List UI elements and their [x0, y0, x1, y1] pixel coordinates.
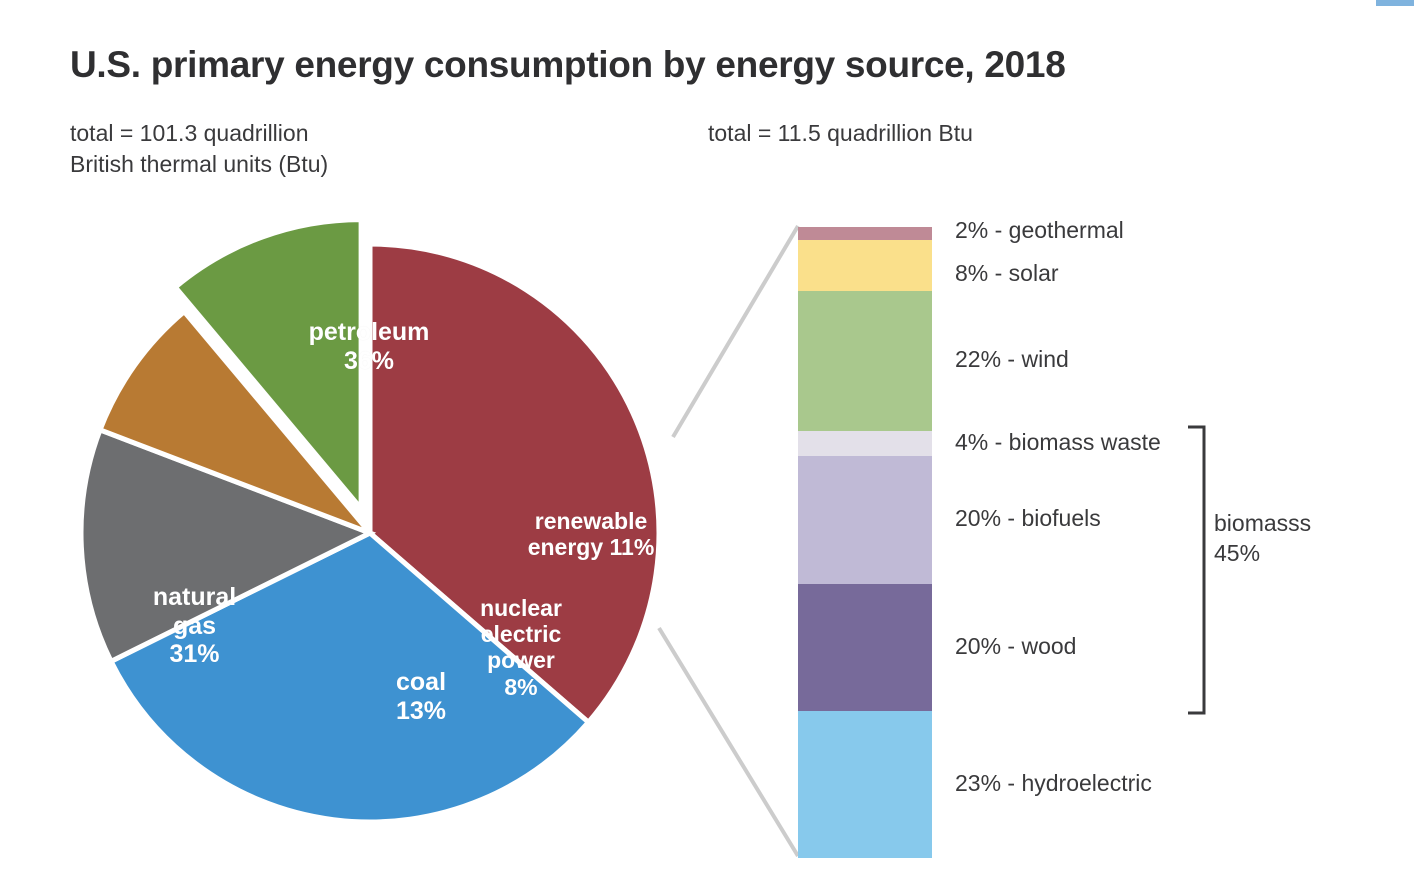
biomass-bracket-label-name: biomasss: [1214, 508, 1311, 538]
connector-line-bottom: [659, 628, 798, 856]
bar-label-wind: 22% - wind: [955, 346, 1069, 373]
chart-canvas: U.S. primary energy consumption by energ…: [0, 0, 1414, 876]
pie-slices: [81, 220, 659, 822]
biomass-bracket-label-value: 45%: [1214, 538, 1311, 568]
bar-segment-solar[interactable]: [798, 240, 932, 291]
bar-segment-geothermal[interactable]: [798, 227, 932, 240]
stacked-bar-chart: [798, 227, 932, 858]
callout-connectors: [659, 226, 798, 856]
bar-label-biomass-waste: 4% - biomass waste: [955, 429, 1161, 456]
bar-segment-biofuels[interactable]: [798, 456, 932, 583]
biomass-bracket: [1186, 425, 1210, 715]
bar-label-biofuels: 20% - biofuels: [955, 505, 1101, 532]
bar-label-geothermal: 2% - geothermal: [955, 217, 1124, 244]
connector-line-top: [673, 226, 798, 437]
bar-label-hydroelectric: 23% - hydroelectric: [955, 770, 1152, 797]
bar-label-solar: 8% - solar: [955, 260, 1059, 287]
bar-segment-wood[interactable]: [798, 584, 932, 711]
bar-segment-hydroelectric[interactable]: [798, 711, 932, 858]
bar-label-wood: 20% - wood: [955, 633, 1076, 660]
biomass-bracket-label: biomasss 45%: [1214, 508, 1311, 568]
bar-segment-wind[interactable]: [798, 291, 932, 431]
bar-segment-biomass-waste[interactable]: [798, 431, 932, 456]
